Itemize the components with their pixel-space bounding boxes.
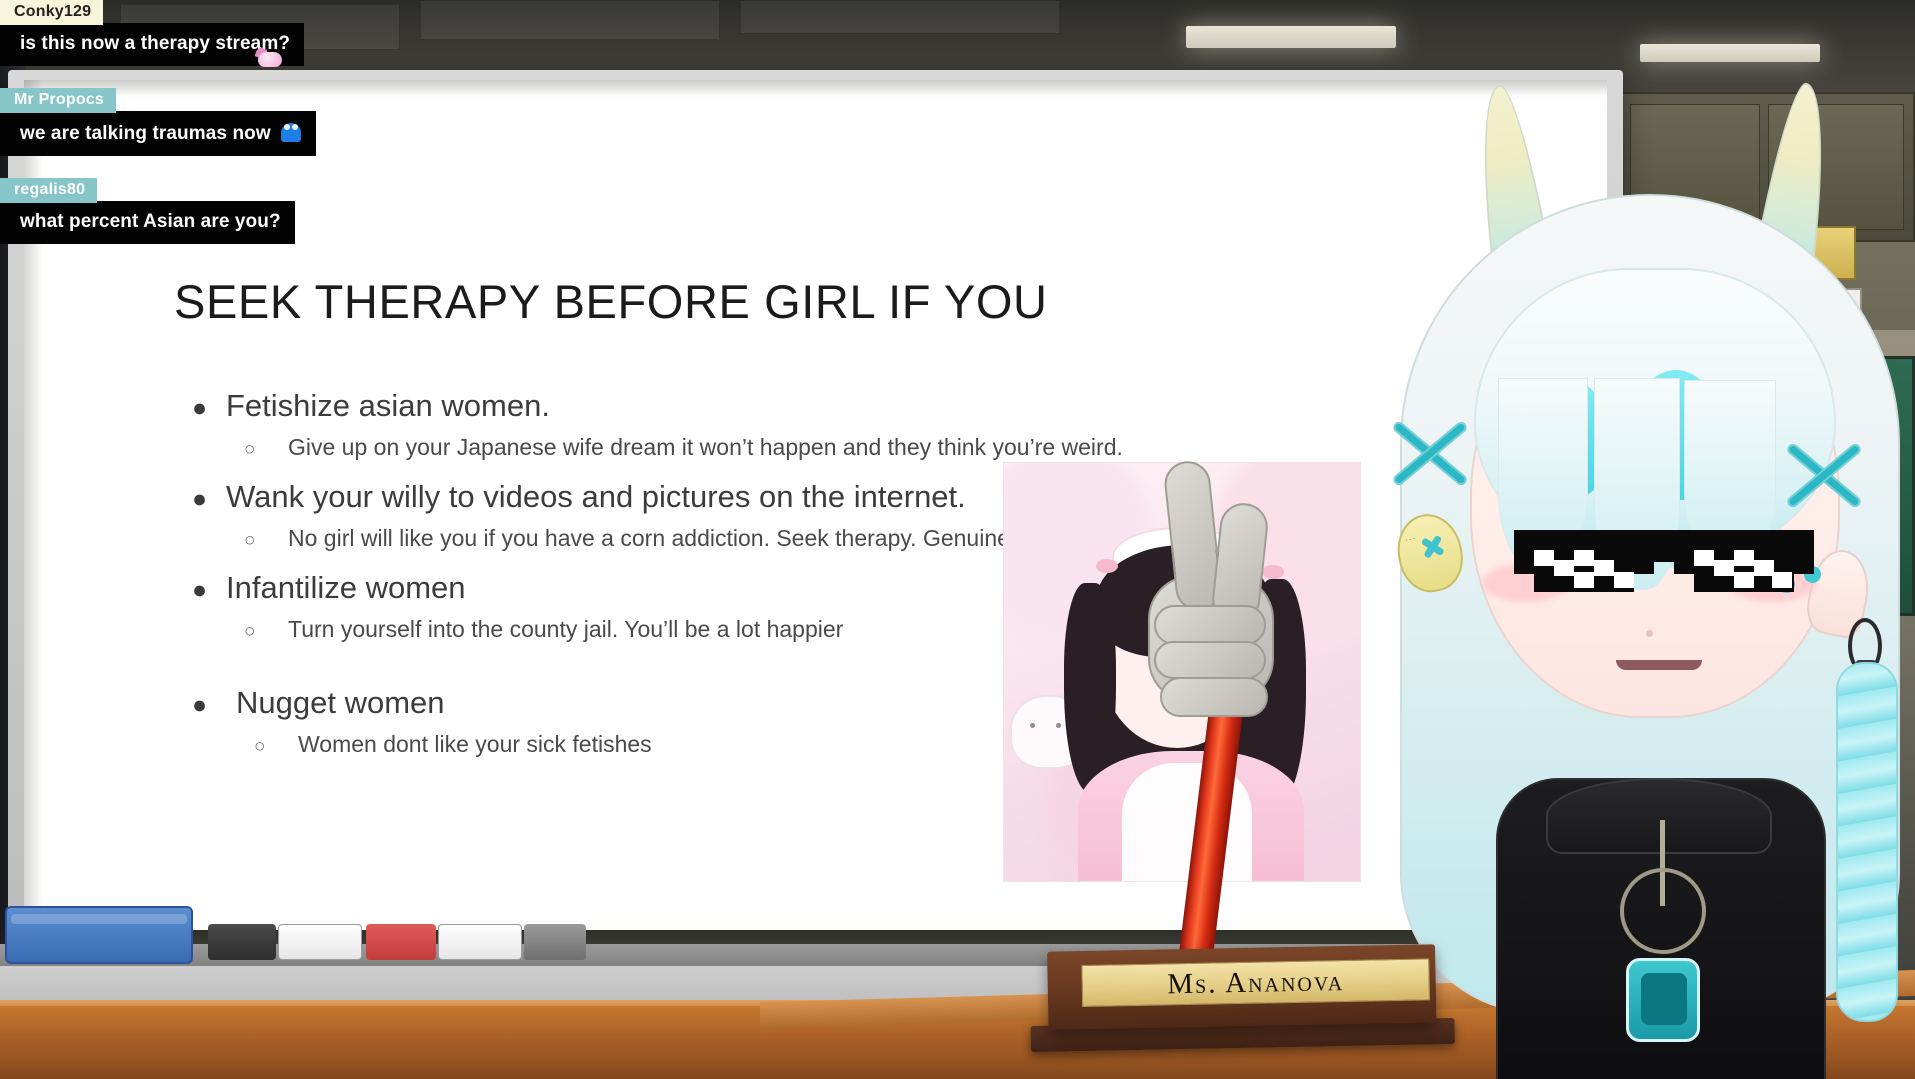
chat-message-body: is this now a therapy stream? [20,33,290,54]
chat-message: regalis80 what percent Asian are you? [0,178,330,244]
sub-bullet-text: Turn yourself into the county jail. You’… [288,615,843,645]
chat-message-text: what percent Asian are you? [0,201,295,244]
bullet-main-text: Infantilize women [226,568,466,607]
nameplate-body: Ms. Ananova [1047,944,1436,1029]
vtuber-avatar: ··· [1378,78,1915,1079]
glove-cuff [1160,677,1268,717]
plush-eye [1056,723,1061,728]
avatar-braid [1836,662,1898,1022]
tag-marks: ··· [1404,533,1418,545]
glove-knuckles [1154,641,1266,679]
blue-ghost-emote-icon [280,121,302,143]
chat-overlay: Conky129 is this now a therapy stream? M… [0,0,330,266]
bullet-main-text: Fetishize asian women. [226,386,550,425]
ceiling-light [1186,26,1396,48]
chat-username[interactable]: Mr Propocs [0,88,116,113]
maid-hair-side [1064,583,1116,793]
marker-red[interactable] [366,924,436,960]
sub-bullet-circle-icon: ○ [244,531,288,550]
bullet-dot-icon: ● [182,693,226,718]
bullet-main-text: Nugget women [226,683,445,722]
glove-knuckles [1154,605,1266,645]
chat-username[interactable]: Conky129 [0,0,103,25]
marker-gray[interactable] [524,924,586,960]
avatar-nose [1646,630,1653,637]
plush-eye [1030,723,1035,728]
bullet-item: ● Fetishize asian women. [182,386,1372,425]
deal-with-it-sunglasses-icon [1514,530,1814,594]
avatar-badge [1626,958,1700,1042]
nameplate-text: Ms. Ananova [1167,965,1344,1001]
chat-message: Conky129 is this now a therapy stream? [0,0,330,66]
marker-white[interactable] [438,924,522,960]
sub-bullet-text: Give up on your Japanese wife dream it w… [288,433,1123,463]
bullet-main-text: Wank your willy to videos and pictures o… [226,477,966,516]
avatar-collar [1546,778,1772,854]
bullet-dot-icon: ● [182,487,226,512]
chat-username[interactable]: regalis80 [0,178,97,203]
x-hairpin-right-icon [1778,430,1870,522]
desk-nameplate: Ms. Ananova [1035,940,1447,1058]
hair-bow [1096,559,1118,573]
chat-message-body: we are talking traumas now [20,123,271,144]
bullet-dot-icon: ● [182,578,226,603]
gloved-hand [1120,455,1310,720]
marker-black[interactable] [208,924,276,960]
sub-bullet-text: No girl will like you if you have a corn… [288,524,1031,554]
ceiling-light [1640,44,1820,62]
stream-screen: SEEK THERAPY BEFORE GIRL IF YOU ● Fetish… [0,0,1915,1079]
chat-message-text: we are talking traumas now [0,111,316,156]
chat-message-body: what percent Asian are you? [20,211,281,232]
nameplate-plate: Ms. Ananova [1081,958,1430,1007]
slide-title: SEEK THERAPY BEFORE GIRL IF YOU [174,274,1048,329]
ceiling-panel [420,0,720,40]
sub-bullet-text: Women dont like your sick fetishes [298,730,652,760]
sub-bullet-circle-icon: ○ [244,440,288,459]
avatar-badge-inner [1641,973,1687,1025]
avatar-ring-accessory [1620,868,1706,954]
sub-bullet-circle-icon: ○ [244,622,288,641]
x-hairpin-left-icon [1384,408,1476,500]
avatar-mouth [1616,660,1702,670]
pink-emote-icon [256,46,286,68]
ceiling-panel [740,0,1060,34]
chat-message: Mr Propocs we are talking traumas now [0,88,330,156]
marker-white[interactable] [278,924,362,960]
sub-bullet-circle-icon: ○ [254,737,298,756]
bullet-dot-icon: ● [182,396,226,421]
whiteboard-eraser[interactable] [5,906,193,964]
